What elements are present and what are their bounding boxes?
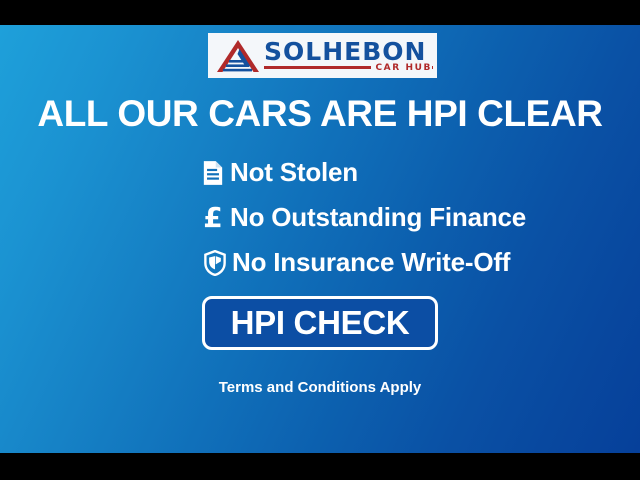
shield-icon [198,250,232,276]
promo-banner: SOLHEBON CAR HUB ALL OUR CARS ARE HPI CL… [0,0,640,480]
brand-tagline: CAR HUB [371,63,432,74]
brand-name: SOLHEBON [264,39,426,65]
feature-label: Not Stolen [230,157,358,188]
list-item: Not Stolen [0,150,640,195]
document-icon [196,160,230,186]
letterbox-bottom [0,453,640,480]
feature-label: No Outstanding Finance [230,202,526,233]
hpi-check-button-label: HPI CHECK [231,304,410,342]
hpi-check-button[interactable]: HPI CHECK [202,296,438,350]
feature-label: No Insurance Write-Off [232,247,510,278]
brand-logo[interactable]: SOLHEBON CAR HUB [208,33,437,78]
pound-sterling-icon: £ [196,204,230,232]
list-item: No Insurance Write-Off [0,240,640,285]
feature-list: Not Stolen £ No Outstanding Finance No I… [0,150,640,285]
brand-wordmark: SOLHEBON CAR HUB [264,36,433,76]
page-title: ALL OUR CARS ARE HPI CLEAR [0,93,640,135]
terms-and-conditions-text: Terms and Conditions Apply [0,379,640,396]
list-item: £ No Outstanding Finance [0,195,640,240]
pound-sterling-glyph: £ [203,204,222,232]
triangle-mountain-icon [212,36,264,76]
letterbox-top [0,0,640,25]
